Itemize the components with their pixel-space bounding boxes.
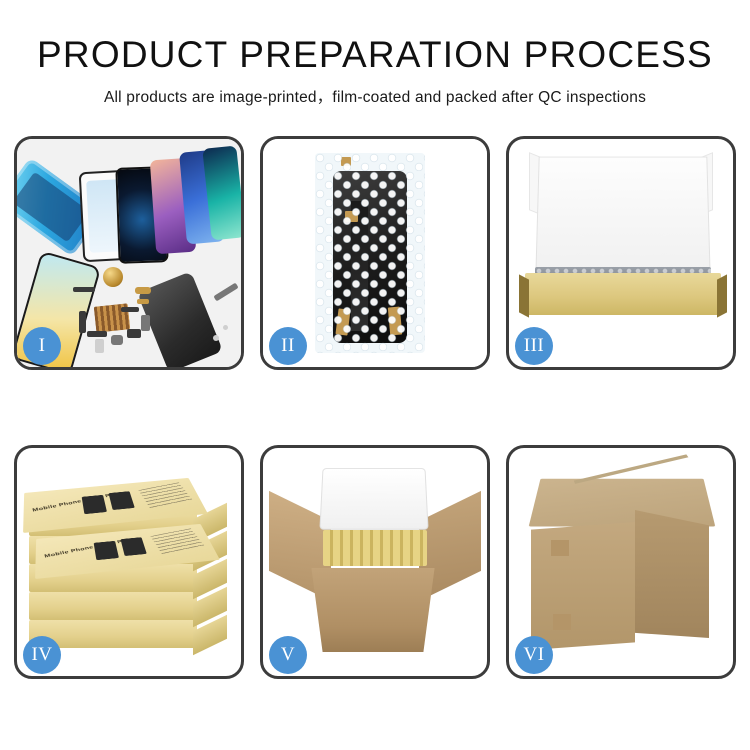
box-label-image bbox=[121, 537, 147, 556]
step-panel-6: VI bbox=[506, 445, 736, 679]
step-badge-3: III bbox=[515, 327, 553, 365]
page-header: PRODUCT PREPARATION PROCESS All products… bbox=[0, 0, 750, 107]
bubble-wrap-bag bbox=[315, 153, 425, 353]
carton-side-face bbox=[635, 510, 709, 638]
carton-tape-lower bbox=[553, 614, 571, 630]
step-badge-4: IV bbox=[23, 636, 61, 674]
box-label-specs bbox=[138, 482, 193, 509]
part-screw bbox=[223, 325, 228, 330]
speaker-component bbox=[103, 267, 123, 287]
page-subtitle: All products are image-printed，film-coat… bbox=[0, 85, 750, 107]
page-title: PRODUCT PREPARATION PROCESS bbox=[0, 36, 750, 75]
step-badge-2: II bbox=[269, 327, 307, 365]
box-stack: Mobile Phone Spare Parts Mobile Phone Sp… bbox=[23, 462, 235, 662]
foam-box-lid bbox=[319, 468, 428, 530]
part-bracket bbox=[79, 311, 86, 333]
step-badge-1: I bbox=[23, 327, 61, 365]
tweezers-tool bbox=[213, 283, 238, 302]
part-bracket bbox=[87, 331, 107, 337]
carton-body bbox=[303, 568, 443, 652]
box-white-lid bbox=[535, 157, 711, 280]
part-module bbox=[141, 315, 150, 331]
box-label-specs bbox=[150, 528, 205, 555]
part-button bbox=[111, 335, 123, 345]
part-tray bbox=[95, 339, 104, 353]
step-panel-1: I bbox=[14, 136, 244, 370]
process-steps-grid: I II III bbox=[14, 136, 736, 679]
step-panel-2: II bbox=[260, 136, 490, 370]
part-connector bbox=[137, 299, 149, 304]
box-label-image bbox=[82, 495, 107, 514]
part-screw bbox=[213, 335, 219, 341]
carton-front-face bbox=[531, 522, 635, 650]
step-panel-3: III bbox=[506, 136, 736, 370]
bubble-texture bbox=[315, 153, 425, 353]
carton-tape-upper bbox=[551, 540, 569, 556]
kraft-box-base bbox=[525, 273, 721, 315]
step-badge-6: VI bbox=[515, 636, 553, 674]
part-strip bbox=[73, 287, 95, 292]
step-panel-5: V bbox=[260, 445, 490, 679]
step-panel-4: Mobile Phone Spare Parts Mobile Phone Sp… bbox=[14, 445, 244, 679]
box-label-image bbox=[94, 541, 119, 560]
carton-top-face bbox=[529, 479, 716, 527]
step-badge-5: V bbox=[269, 636, 307, 674]
part-camera bbox=[127, 329, 141, 338]
box-label-image bbox=[109, 491, 135, 510]
part-flex bbox=[121, 307, 139, 312]
part-connector bbox=[135, 287, 151, 294]
